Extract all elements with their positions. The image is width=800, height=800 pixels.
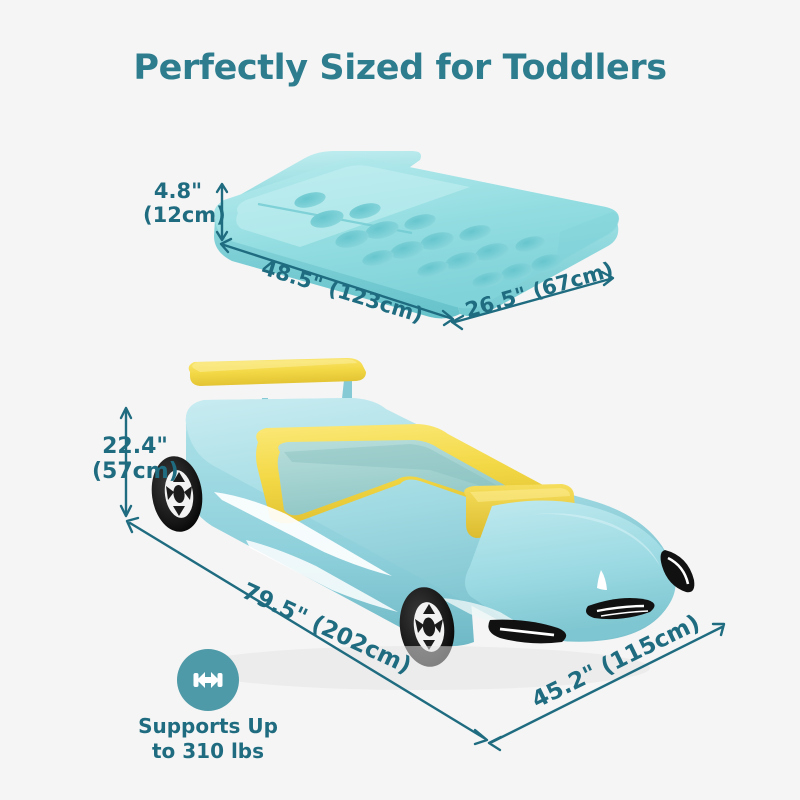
spoiler-strut-left — [259, 398, 268, 430]
racing-stripe-front — [440, 598, 530, 630]
bed-width-label: 45.2" (115cm) — [528, 611, 704, 715]
front-grille — [586, 598, 655, 619]
bed-height-label: 22.4" (57cm) — [92, 435, 178, 484]
spoiler-wing — [189, 358, 366, 386]
support-badge-circle — [177, 649, 239, 711]
mattress-thickness-label: 4.8" (12cm) — [143, 180, 213, 227]
car-front-hood — [465, 500, 676, 640]
bed-interior-trim — [256, 424, 565, 523]
bed-height-cm: (57cm) — [92, 460, 178, 485]
mattress-thickness-cm: (12cm) — [143, 204, 213, 228]
support-badge-text: Supports Up to 310 lbs — [108, 714, 308, 764]
dumbbell-icon — [177, 649, 239, 711]
mattress-thickness-inches: 4.8" — [143, 180, 213, 204]
bed-length-label: 79.5" (202cm) — [238, 579, 415, 680]
spoiler-strut-right — [341, 380, 352, 408]
racing-stripe-upper — [214, 492, 392, 576]
mattress-width-label: 26.5" (67cm) — [463, 258, 616, 323]
car-left-side — [186, 430, 474, 646]
page-title: Perfectly Sized for Toddlers — [0, 48, 800, 88]
car-rear-deck — [186, 398, 444, 490]
support-badge-line1: Supports Up — [108, 714, 308, 739]
mattress-length-label: 48.5" (123cm) — [259, 257, 426, 328]
arrow-bed-width — [492, 627, 722, 742]
support-badge-line2: to 310 lbs — [108, 739, 308, 764]
infographic-page: Perfectly Sized for Toddlers — [0, 0, 800, 800]
bed-interior-well — [278, 440, 535, 515]
bed-height-inches: 22.4" — [92, 435, 178, 460]
headlight-right — [661, 550, 695, 592]
car-bed-illustration — [147, 358, 694, 690]
side-rail-trim — [464, 484, 576, 538]
hood-emblem — [597, 570, 607, 590]
illustration-layer — [0, 0, 800, 800]
headlight-left — [488, 620, 566, 644]
